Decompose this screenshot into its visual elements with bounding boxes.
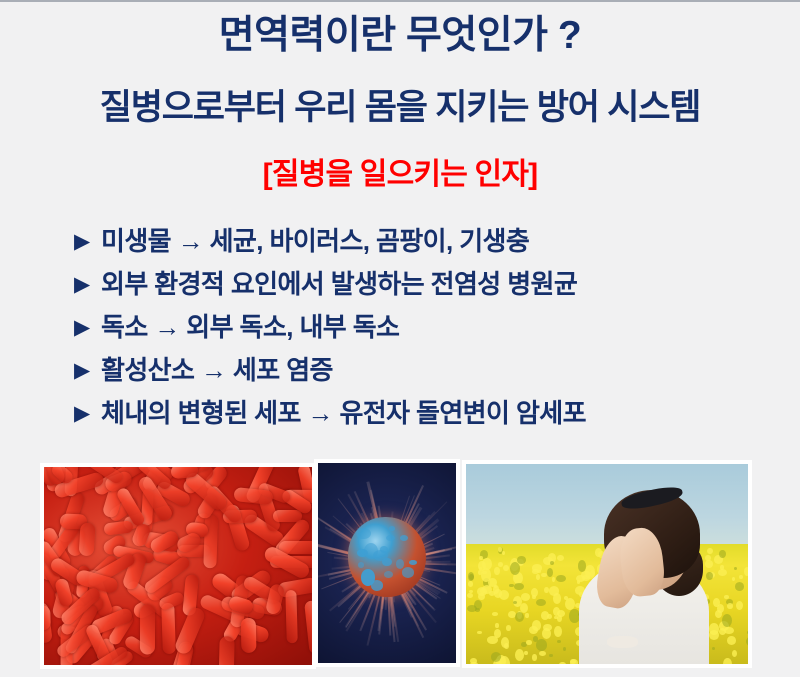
list-item: ▶ 외부 환경적 요인에서 발생하는 전염성 병원균 — [74, 264, 774, 307]
slide-root: 면역력이란 무엇인가 ? 질병으로부터 우리 몸을 지키는 방어 시스템 [질병… — [0, 0, 800, 677]
woman-sneezing-in-rapeseed-field-photo — [462, 460, 752, 668]
triangle-bullet-icon: ▶ — [74, 317, 101, 338]
cancer-cell-image — [318, 463, 456, 663]
list-item-label: 체내의 변형된 세포 → 유전자 돌연변이 암세포 — [101, 393, 586, 430]
section-label: [질병을 일으키는 인자] — [0, 157, 800, 193]
list-item: ▶ 미생물 → 세균, 바이러스, 곰팡이, 기생충 — [74, 221, 774, 264]
list-item-label: 활성산소 → 세포 염증 — [101, 350, 333, 387]
red-rod-bacteria-image — [44, 467, 312, 665]
list-item: ▶ 독소 → 외부 독소, 내부 독소 — [74, 307, 774, 350]
photo-strip — [0, 457, 800, 672]
woman-bracelet — [607, 636, 638, 648]
list-item-label: 외부 환경적 요인에서 발생하는 전염성 병원균 — [101, 264, 577, 301]
triangle-bullet-icon: ▶ — [74, 231, 101, 252]
triangle-bullet-icon: ▶ — [74, 403, 101, 424]
cancer-cell-microscopy-photo — [314, 459, 460, 667]
triangle-bullet-icon: ▶ — [74, 274, 101, 295]
red-rod-bacteria-photo — [40, 463, 316, 669]
triangle-bullet-icon: ▶ — [74, 360, 101, 381]
cell-body — [348, 517, 426, 597]
list-item-label: 미생물 → 세균, 바이러스, 곰팡이, 기생충 — [101, 221, 529, 258]
list-item: ▶ 체내의 변형된 세포 → 유전자 돌연변이 암세포 — [74, 393, 774, 436]
page-title: 면역력이란 무엇인가 ? — [0, 14, 800, 59]
allergy-scene-image — [466, 464, 748, 664]
list-item: ▶ 활성산소 → 세포 염증 — [74, 350, 774, 393]
causes-bullet-list: ▶ 미생물 → 세균, 바이러스, 곰팡이, 기생충 ▶ 외부 환경적 요인에서… — [74, 221, 774, 436]
slide-subtitle: 질병으로부터 우리 몸을 지키는 방어 시스템 — [0, 88, 800, 128]
list-item-label: 독소 → 외부 독소, 내부 독소 — [101, 307, 399, 344]
